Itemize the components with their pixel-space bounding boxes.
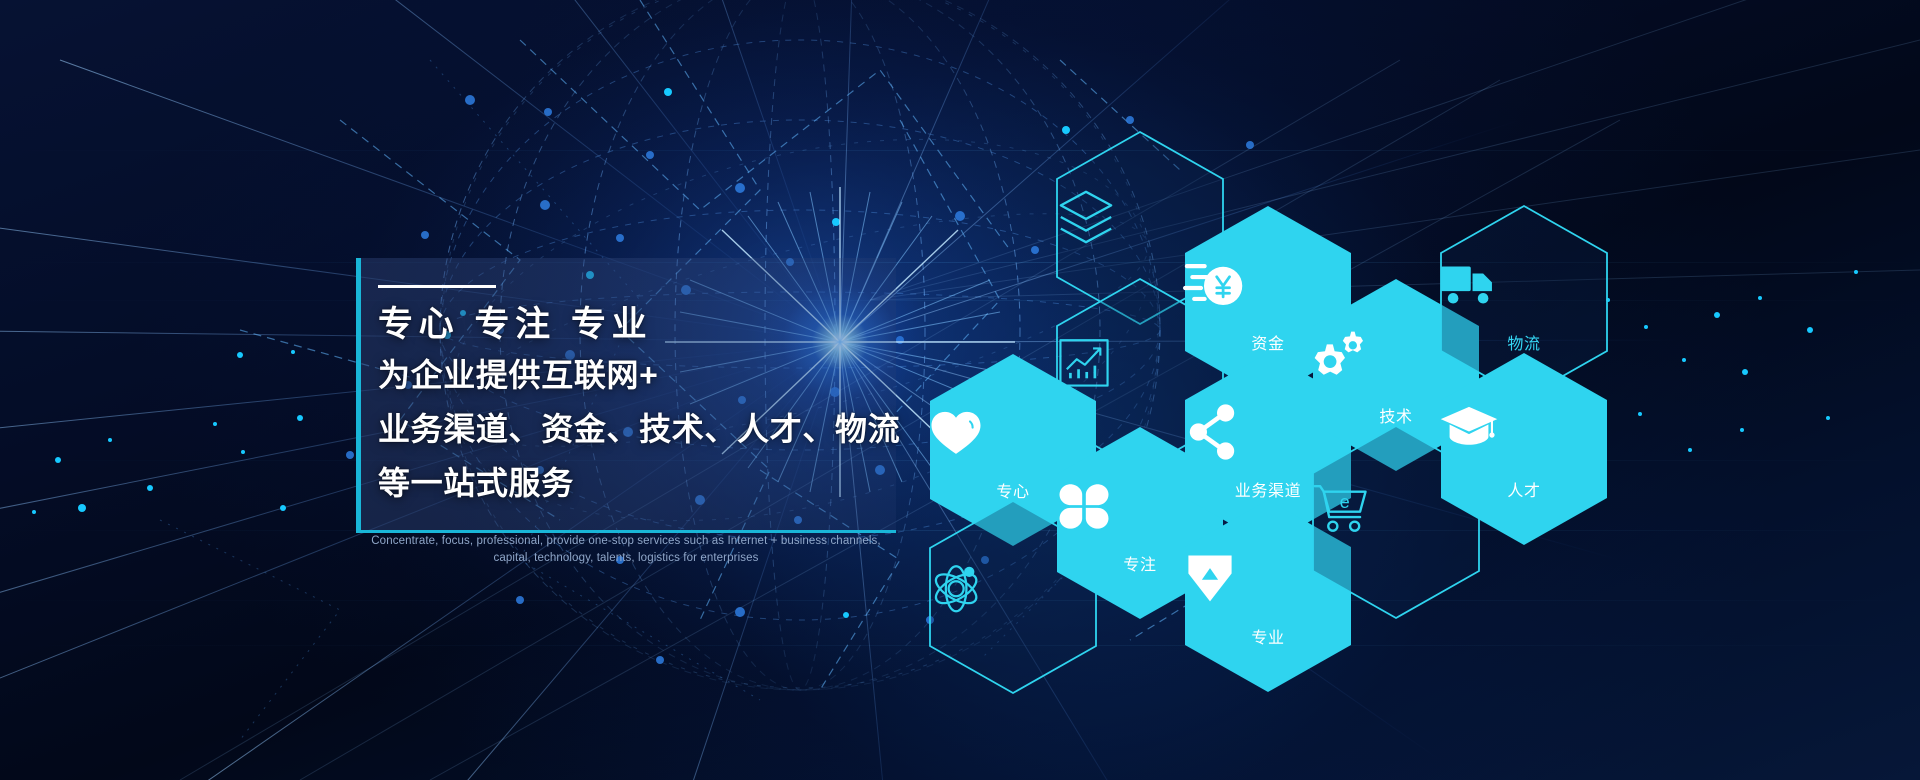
banner-hero: 专心 专注 专业 为企业提供互联网+ 业务渠道、资金、技术、人才、物流 等一站式… [0,0,1920,780]
headline-subtitle: Concentrate, focus, professional, provid… [356,533,896,567]
hexagon-label: 人才 [1439,477,1609,501]
graduation-cap-icon [1439,403,1609,465]
svg-text:e: e [1340,492,1350,512]
headline-line-2: 为企业提供互联网+ [378,350,658,396]
headline-rule [378,285,496,288]
truck-icon [1439,260,1609,322]
hexagon-label: 专业 [1183,624,1353,648]
headline-line-3: 业务渠道、资金、技术、人才、物流 [378,404,900,450]
headline-line-4: 等一站式服务 [378,458,574,504]
headline-line-1: 专心 专注 专业 [378,296,652,347]
hexagon-rencai[interactable]: 人才 [1439,351,1609,547]
